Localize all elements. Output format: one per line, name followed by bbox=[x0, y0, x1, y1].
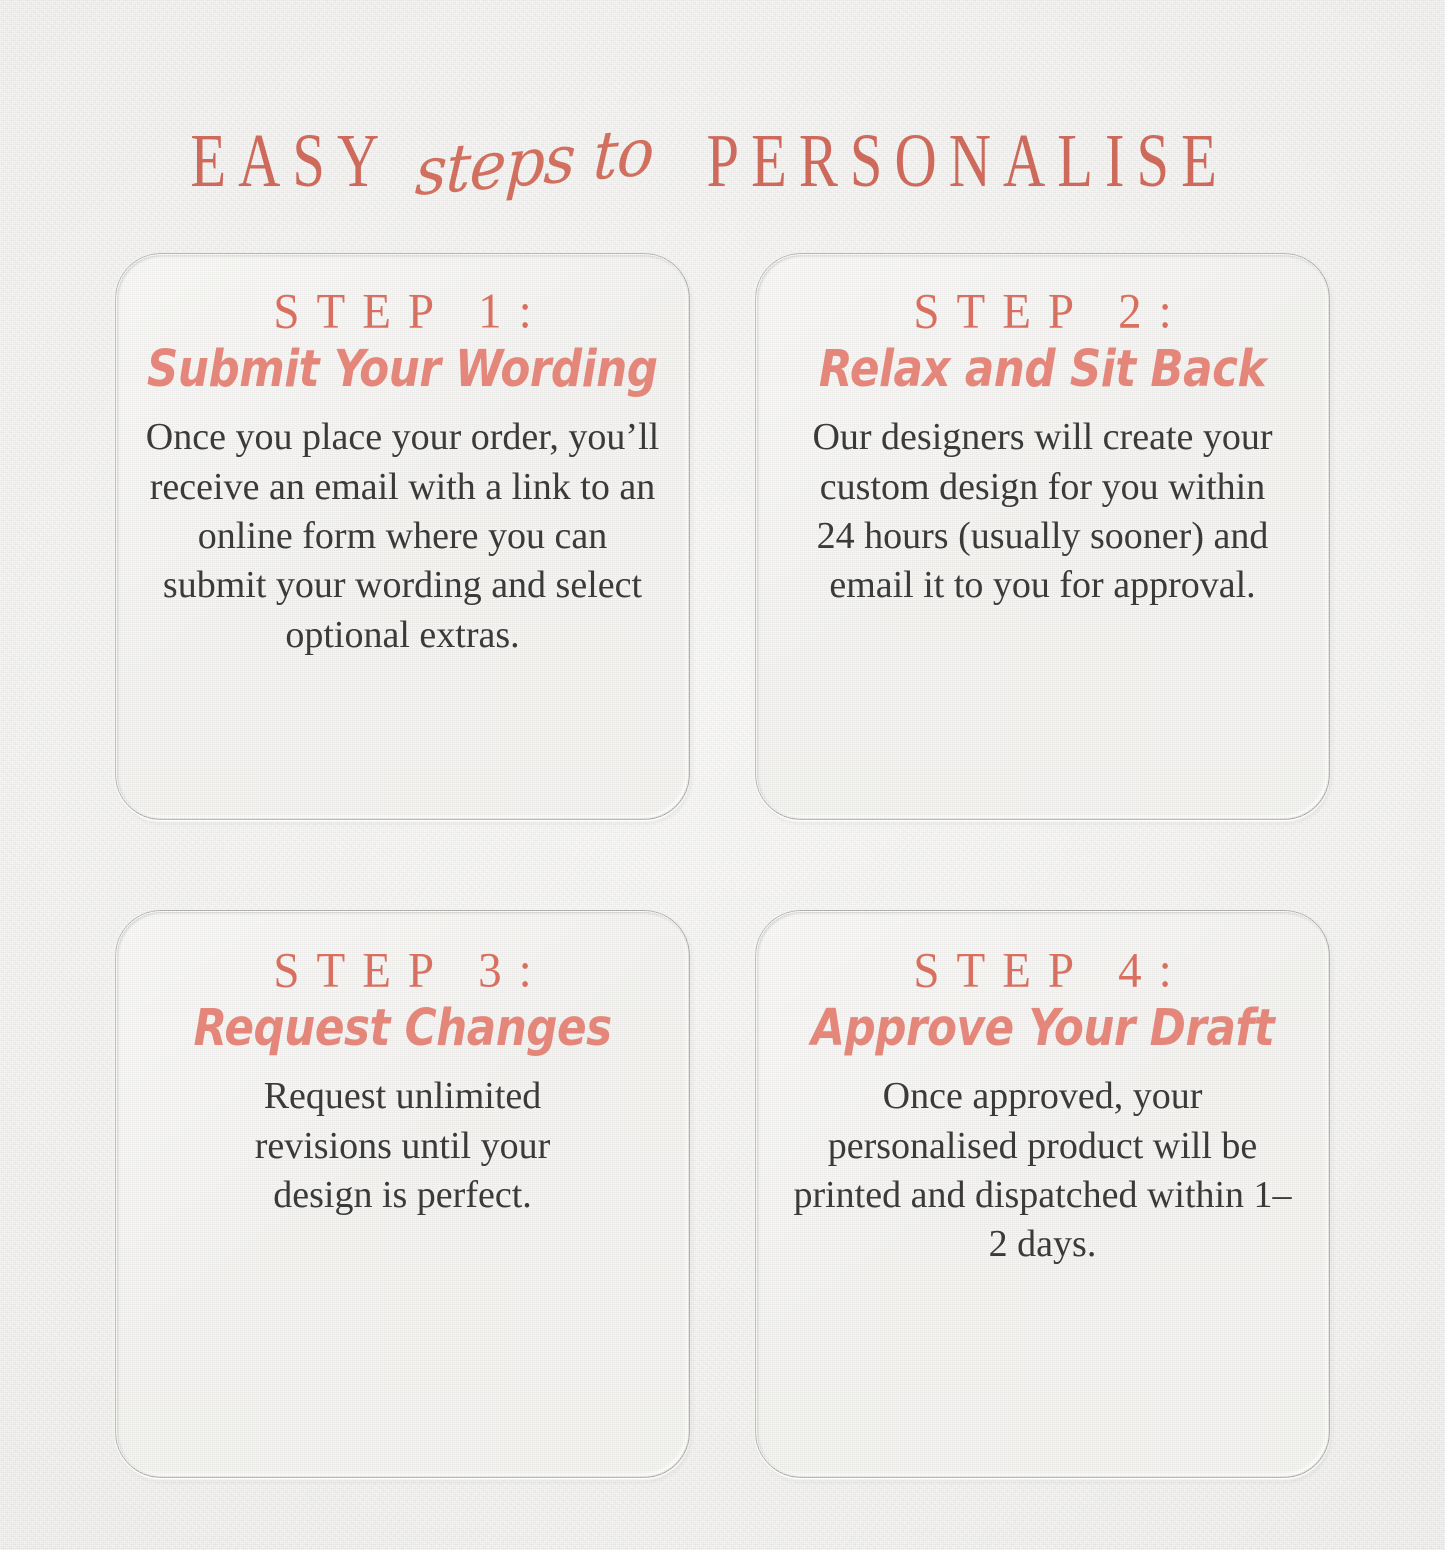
step-card-3: STEP 3: Request Changes Request unlimite… bbox=[115, 910, 690, 1478]
page-title: EASY steps to PERSONALISE bbox=[0, 112, 1445, 208]
title-word-personalise: PERSONALISE bbox=[707, 122, 1229, 198]
step-title: Approve Your Draft bbox=[811, 1000, 1274, 1055]
step-title: Submit Your Wording bbox=[147, 341, 658, 396]
step-card-content: STEP 3: Request Changes Request unlimite… bbox=[145, 946, 660, 1220]
step-title: Relax and Sit Back bbox=[819, 341, 1266, 396]
steps-grid: STEP 1: Submit Your Wording Once you pla… bbox=[115, 253, 1330, 1478]
step-label: STEP 3: bbox=[256, 945, 548, 998]
step-title: Request Changes bbox=[193, 1000, 611, 1055]
step-body: Once you place your order, you’ll receiv… bbox=[145, 413, 660, 660]
title-script-steps-to: steps to bbox=[408, 118, 661, 206]
step-card-content: STEP 2: Relax and Sit Back Our designers… bbox=[785, 287, 1300, 611]
step-label: STEP 2: bbox=[896, 286, 1188, 339]
step-card-2: STEP 2: Relax and Sit Back Our designers… bbox=[755, 253, 1330, 820]
infographic-page: EASY steps to PERSONALISE STEP 1: Submit… bbox=[0, 0, 1445, 1550]
step-body: Once approved, your personalised product… bbox=[788, 1072, 1298, 1270]
step-body: Request unlimited revisions until your d… bbox=[203, 1072, 603, 1220]
step-card-4: STEP 4: Approve Your Draft Once approved… bbox=[755, 910, 1330, 1478]
step-card-1: STEP 1: Submit Your Wording Once you pla… bbox=[115, 253, 690, 820]
step-card-content: STEP 1: Submit Your Wording Once you pla… bbox=[145, 287, 660, 660]
title-word-easy: EASY bbox=[190, 122, 391, 198]
step-body: Our designers will create your custom de… bbox=[798, 413, 1288, 611]
step-card-content: STEP 4: Approve Your Draft Once approved… bbox=[785, 946, 1300, 1270]
step-label: STEP 4: bbox=[896, 945, 1188, 998]
step-label: STEP 1: bbox=[256, 286, 548, 339]
